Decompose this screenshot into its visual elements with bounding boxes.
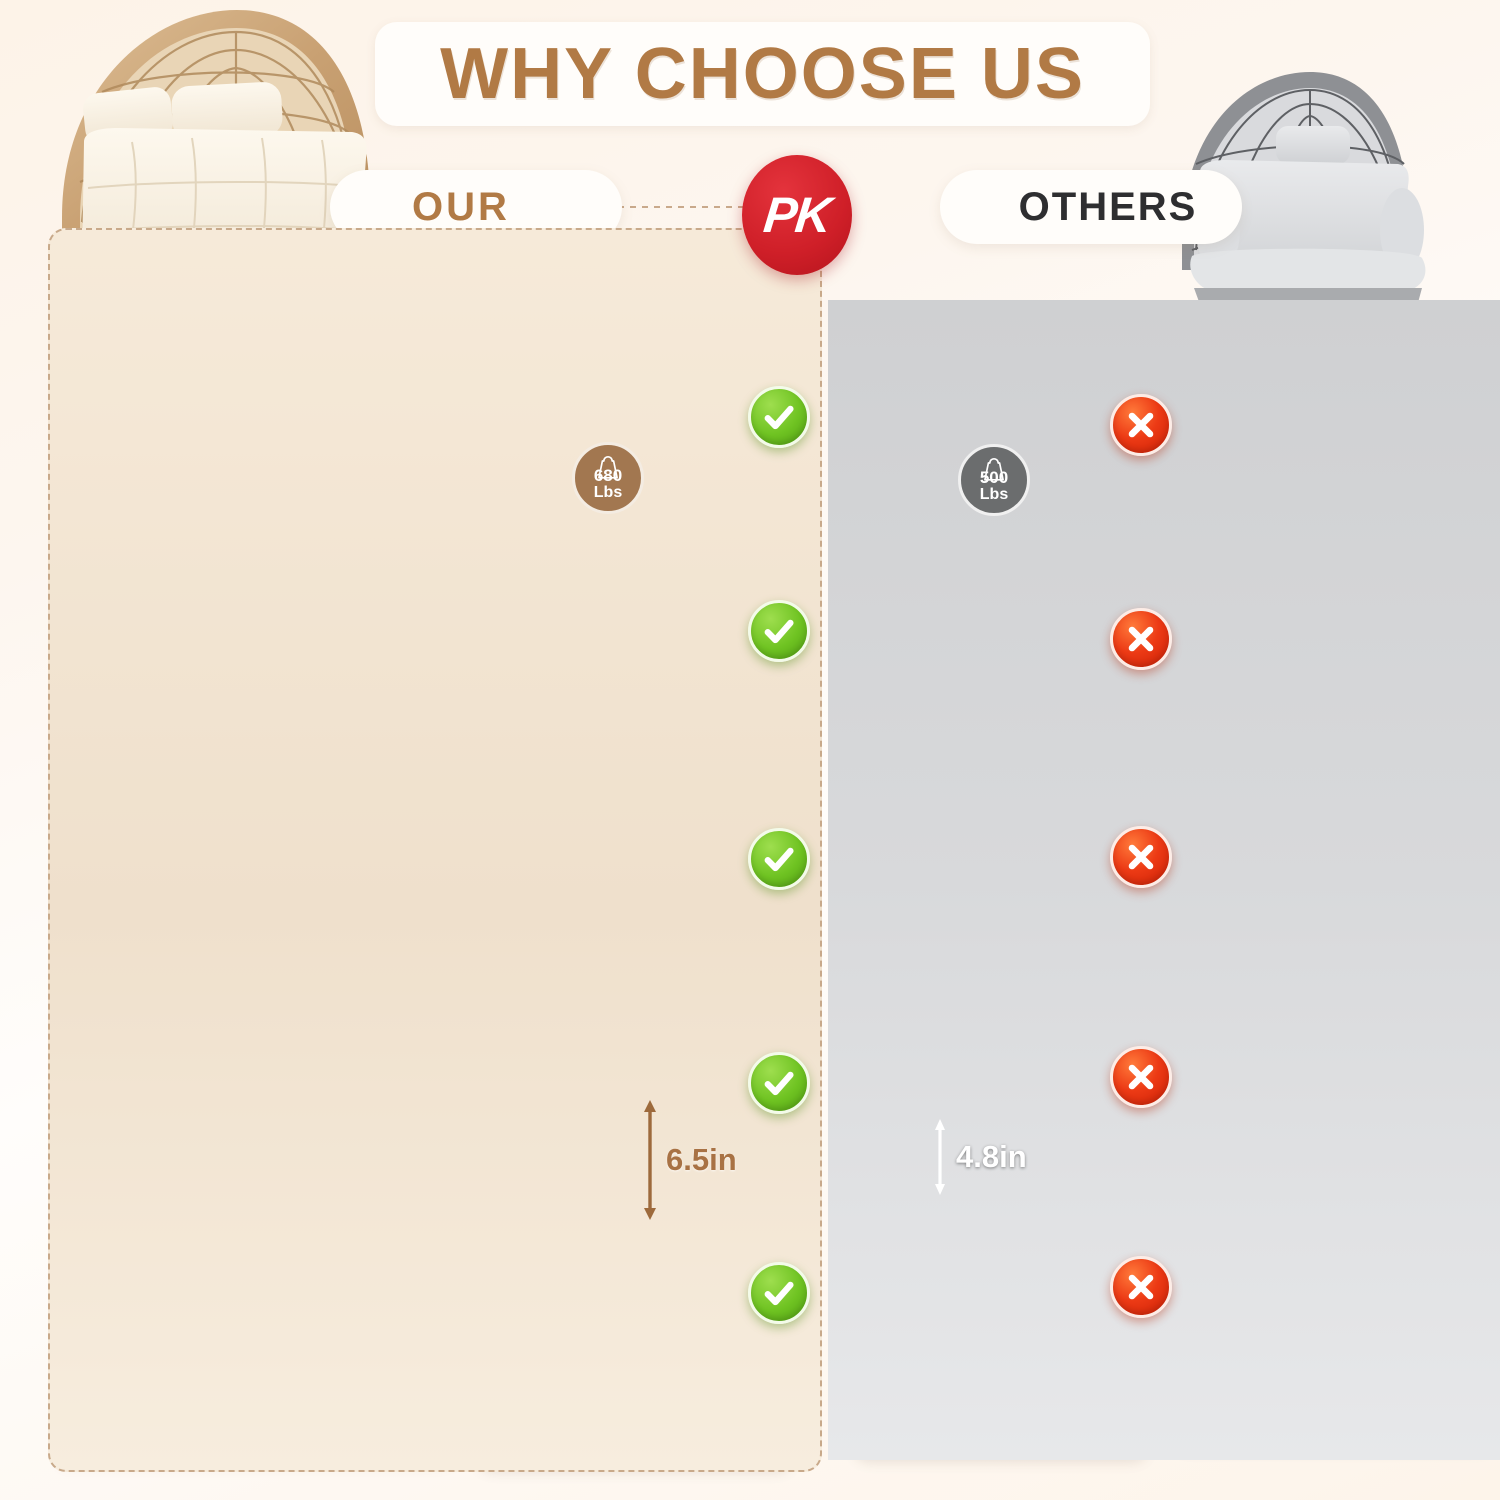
our-feature-5-check-icon	[748, 1262, 810, 1324]
others-feature-1-cross-icon	[1110, 394, 1172, 456]
others-dimension-label: 4.8in	[956, 1139, 1027, 1175]
column-header-our-label: OUR	[412, 185, 510, 230]
others-weight-badge: 500 Lbs	[958, 444, 1030, 516]
column-header-others-label: OTHERS	[1019, 185, 1198, 230]
pk-badge: PK	[742, 155, 852, 275]
our-feature-2-check-icon	[748, 600, 810, 662]
others-feature-3-cross-icon	[1110, 826, 1172, 888]
dimension-arrow-icon	[642, 1098, 658, 1222]
infographic-root: WHY CHOOSE US OUR PK OTHERS	[0, 0, 1500, 1500]
dimension-arrow-icon	[932, 1118, 948, 1196]
our-dimension-annotation: 6.5in	[642, 1098, 737, 1222]
our-feature-3-check-icon	[748, 828, 810, 890]
page-title-text: WHY CHOOSE US	[440, 33, 1085, 115]
others-weight-unit: Lbs	[980, 487, 1008, 504]
others-feature-4-cross-icon	[1110, 1046, 1172, 1108]
our-panel	[48, 228, 822, 1472]
others-feature-2-cross-icon	[1110, 608, 1172, 670]
pk-badge-label: PK	[761, 186, 833, 244]
our-feature-4-check-icon	[748, 1052, 810, 1114]
others-dimension-annotation: 4.8in	[932, 1118, 1027, 1196]
our-feature-1-check-icon	[748, 386, 810, 448]
weight-icon	[977, 456, 1011, 484]
our-weight-badge: 680 Lbs	[572, 442, 644, 514]
our-weight-unit: Lbs	[594, 485, 622, 502]
column-header-others: OTHERS	[940, 170, 1242, 244]
others-feature-5-cross-icon	[1110, 1256, 1172, 1318]
our-dimension-label: 6.5in	[666, 1142, 737, 1178]
page-title: WHY CHOOSE US	[375, 22, 1150, 126]
weight-icon	[591, 454, 625, 482]
